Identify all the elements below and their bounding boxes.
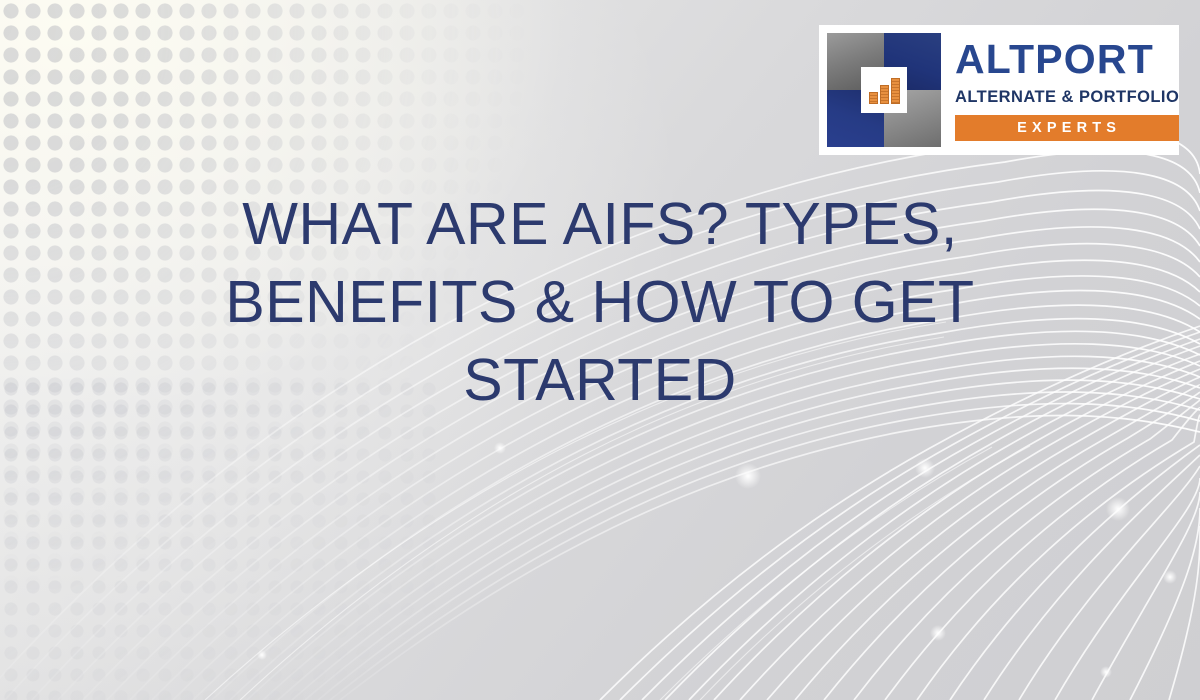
altport-logo-mark-icon <box>827 33 941 147</box>
page-title-block: What are AIFs? Types, Benefits & How to … <box>150 186 1050 420</box>
coin-stack-bar-3 <box>891 78 900 104</box>
logo-tagline: ALTERNATE & PORTFOLIO <box>955 89 1179 106</box>
altport-logo-text: ALTPORT ALTERNATE & PORTFOLIO EXPERTS <box>941 39 1179 141</box>
coin-stack-bar-2 <box>880 85 889 104</box>
coin-stack-bar-1 <box>869 92 878 104</box>
altport-logo[interactable]: ALTPORT ALTERNATE & PORTFOLIO EXPERTS <box>819 25 1179 155</box>
halftone-dot-pattern-lower <box>0 380 440 700</box>
logo-wordmark: ALTPORT <box>955 39 1179 80</box>
logo-experts-badge: EXPERTS <box>955 115 1179 142</box>
bar-chart-coins-icon <box>861 67 907 113</box>
page-title: What are AIFs? Types, Benefits & How to … <box>150 186 1050 420</box>
blog-hero-banner: What are AIFs? Types, Benefits & How to … <box>0 0 1200 700</box>
